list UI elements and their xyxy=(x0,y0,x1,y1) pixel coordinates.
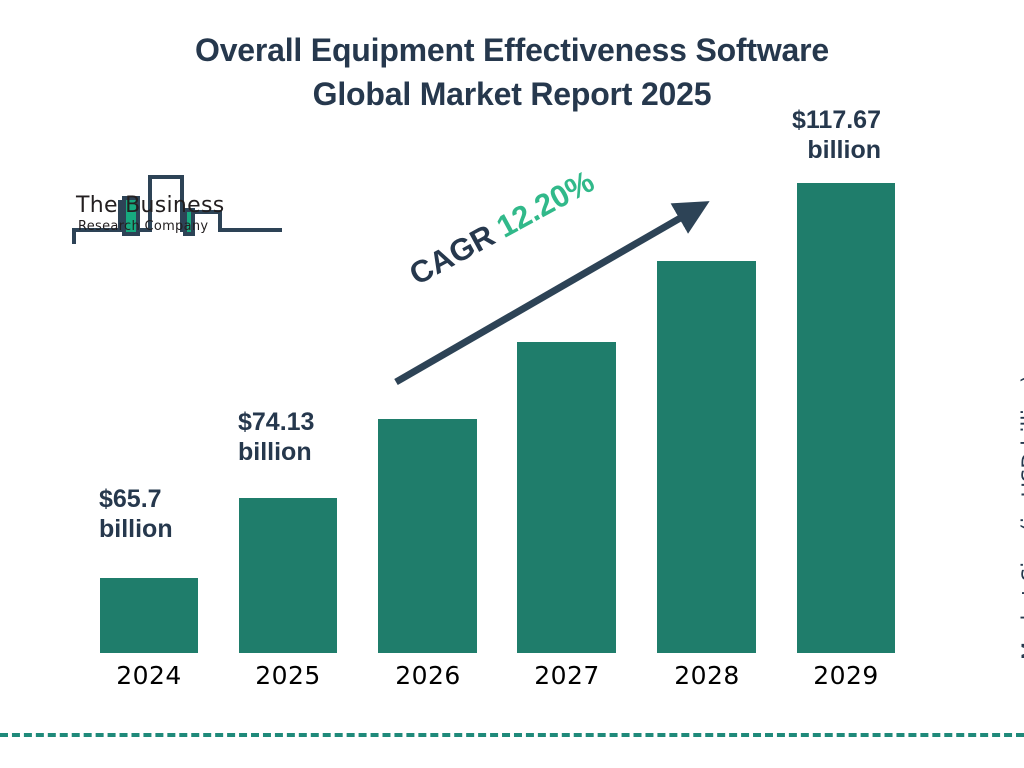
bar-2028 xyxy=(657,261,756,653)
company-logo: The Business Research Company xyxy=(72,172,284,250)
bar-value-2024: $65.7 billion xyxy=(99,484,239,544)
cagr-label-value: 12.20% xyxy=(491,164,600,245)
bar-chart-plot: $65.7 billion $74.13 billion $117.67 bil… xyxy=(0,0,1024,768)
logo-text: The Business Research Company xyxy=(76,194,225,234)
x-axis-label-2029: 2029 xyxy=(796,661,896,690)
logo-line-1: The Business xyxy=(76,194,225,218)
cagr-label-word: CAGR xyxy=(404,218,501,292)
bar-value-2025: $74.13 billion xyxy=(238,407,388,467)
cagr-annotation: CAGR12.20% xyxy=(404,164,600,291)
logo-line-2: Research Company xyxy=(78,219,225,234)
footer-divider xyxy=(0,733,1024,737)
x-axis-label-2026: 2026 xyxy=(378,661,478,690)
bar-2029 xyxy=(797,183,895,653)
bar-2024 xyxy=(100,578,198,653)
x-axis-label-2028: 2028 xyxy=(657,661,757,690)
bar-2026 xyxy=(378,419,477,653)
bar-value-2029: $117.67 billion xyxy=(741,105,881,165)
bar-2025 xyxy=(239,498,337,653)
x-axis-label-2024: 2024 xyxy=(99,661,199,690)
x-axis-label-2027: 2027 xyxy=(517,661,617,690)
x-axis-label-2025: 2025 xyxy=(238,661,338,690)
chart-canvas: Overall Equipment Effectiveness Software… xyxy=(0,0,1024,768)
y-axis-title: Market Size (in USD billion) xyxy=(1018,330,1024,660)
bar-2027 xyxy=(517,342,616,653)
